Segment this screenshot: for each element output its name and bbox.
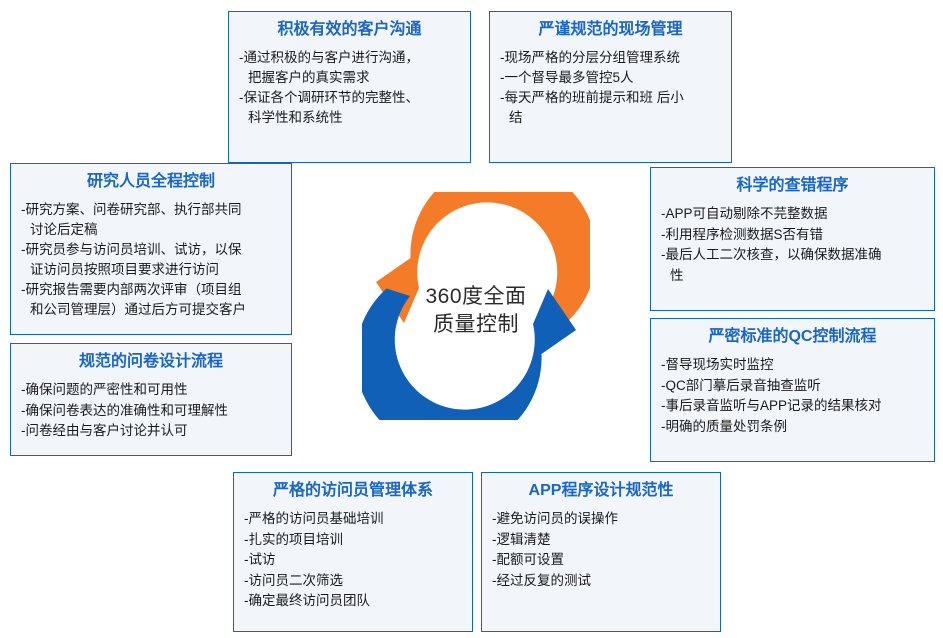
info-box-error-check[interactable]: 科学的查错程序 -APP可自动剔除不芫整数据 -利用程序检测数据S否有错 -最后… <box>650 167 935 311</box>
info-box-line: -事后录音监听与APP记录的结果核对 <box>661 396 924 417</box>
info-box-line: -避免访问员的误操作 <box>492 509 710 530</box>
info-box-line: -APP可自动剔除不芫整数据 <box>661 204 924 225</box>
info-box-questionnaire[interactable]: 规范的问卷设计流程 -确保问题的严密性和可用性 -确保问卷表达的准确性和可理解性… <box>10 343 292 456</box>
info-box-line: -明确的质量处罚条例 <box>661 417 924 438</box>
info-box-lines: -通过积极的与客户进行沟通， 把握客户的真实需求 -保证各个调研环节的完整性、 … <box>239 48 460 128</box>
info-box-title: 研究人员全程控制 <box>21 171 281 193</box>
info-box-line: -保证各个调研环节的完整性、 <box>239 88 460 108</box>
info-box-line: 结 <box>500 108 721 128</box>
info-box-title: 严格的访问员管理体系 <box>244 480 462 502</box>
info-box-customer-comm[interactable]: 积极有效的客户沟通 -通过积极的与客户进行沟通， 把握客户的真实需求 -保证各个… <box>228 11 471 163</box>
info-box-line: -经过反复的测试 <box>492 571 710 592</box>
info-box-lines: -避免访问员的误操作 -逻辑清楚 -配额可设置 -经过反复的测试 <box>492 509 710 591</box>
center-label-line-1: 360度全面 <box>382 283 570 311</box>
info-box-title: 严谨规范的现场管理 <box>500 19 721 41</box>
info-box-line: 科学性和系统性 <box>239 108 460 128</box>
info-box-title: 积极有效的客户沟通 <box>239 19 460 41</box>
info-box-line: -现场严格的分层分组管理系统 <box>500 48 721 68</box>
info-box-lines: -督导现场实时监控 -QC部门摹后录音抽查监听 -事后录音监听与APP记录的结果… <box>661 355 924 437</box>
info-box-line: -研究报告需要内部两次评审（项目组 <box>21 280 281 300</box>
info-box-line: 性 <box>661 266 924 287</box>
info-box-line: -逻辑清楚 <box>492 530 710 551</box>
info-box-line: -研究方案、问卷研究部、执行部共同 <box>21 200 281 220</box>
info-box-line: 讨论后定稿 <box>21 220 281 240</box>
info-box-title: 科学的查错程序 <box>661 175 924 197</box>
center-label-line-2: 质量控制 <box>382 311 570 339</box>
center-label: 360度全面 质量控制 <box>382 283 570 339</box>
info-box-line: -利用程序检测数据S否有错 <box>661 225 924 246</box>
info-box-title: 规范的问卷设计流程 <box>21 351 281 373</box>
info-box-line: 证访问员按照项目要求进行访问 <box>21 260 281 280</box>
info-box-interviewer[interactable]: 严格的访问员管理体系 -严格的访问员基础培训 -扎实的项目培训 -试访 -访问员… <box>233 472 473 632</box>
info-box-line: -最后人工二次核查，以确保数据准确 <box>661 245 924 266</box>
info-box-lines: -研究方案、问卷研究部、执行部共同 讨论后定稿 -研究员参与访问员培训、试访，以… <box>21 200 281 320</box>
diagram-canvas: 积极有效的客户沟通 -通过积极的与客户进行沟通， 把握客户的真实需求 -保证各个… <box>0 0 943 638</box>
info-box-line: -配额可设置 <box>492 550 710 571</box>
info-box-line: -试访 <box>244 550 462 571</box>
info-box-line: -督导现场实时监控 <box>661 355 924 376</box>
info-box-line: -QC部门摹后录音抽查监听 <box>661 376 924 397</box>
info-box-line: -一个督导最多管控5人 <box>500 68 721 88</box>
info-box-line: -通过积极的与客户进行沟通， <box>239 48 460 68</box>
info-box-line: -严格的访问员基础培训 <box>244 509 462 530</box>
info-box-lines: -严格的访问员基础培训 -扎实的项目培训 -试访 -访问员二次筛选 -确定最终访… <box>244 509 462 612</box>
info-box-line: -访问员二次筛选 <box>244 571 462 592</box>
info-box-qc-process[interactable]: 严密标准的QC控制流程 -督导现场实时监控 -QC部门摹后录音抽查监听 -事后录… <box>650 318 935 462</box>
info-box-title: 严密标准的QC控制流程 <box>661 326 924 348</box>
info-box-line: -确保问题的严密性和可用性 <box>21 380 281 401</box>
info-box-lines: -现场严格的分层分组管理系统 -一个督导最多管控5人 -每天严格的班前提示和班 … <box>500 48 721 128</box>
info-box-line: -问卷经由与客户讨论并认可 <box>21 421 281 442</box>
info-box-line: -研究员参与访问员培训、试访，以保 <box>21 240 281 260</box>
info-box-line: -确保问卷表达的准确性和可理解性 <box>21 401 281 422</box>
info-box-site-mgmt[interactable]: 严谨规范的现场管理 -现场严格的分层分组管理系统 -一个督导最多管控5人 -每天… <box>489 11 732 163</box>
info-box-title: APP程序设计规范性 <box>492 480 710 502</box>
info-box-lines: -APP可自动剔除不芫整数据 -利用程序检测数据S否有错 -最后人工二次核查，以… <box>661 204 924 286</box>
info-box-line: -扎实的项目培训 <box>244 530 462 551</box>
info-box-line: -每天严格的班前提示和班 后小 <box>500 88 721 108</box>
info-box-line: -确定最终访问员团队 <box>244 591 462 612</box>
info-box-line: 把握客户的真实需求 <box>239 68 460 88</box>
info-box-app-design[interactable]: APP程序设计规范性 -避免访问员的误操作 -逻辑清楚 -配额可设置 -经过反复… <box>481 472 721 632</box>
info-box-line: 和公司管理层）通过后方可提交客户 <box>21 300 281 320</box>
info-box-researcher-ctrl[interactable]: 研究人员全程控制 -研究方案、问卷研究部、执行部共同 讨论后定稿 -研究员参与访… <box>10 163 292 335</box>
info-box-lines: -确保问题的严密性和可用性 -确保问卷表达的准确性和可理解性 -问卷经由与客户讨… <box>21 380 281 442</box>
